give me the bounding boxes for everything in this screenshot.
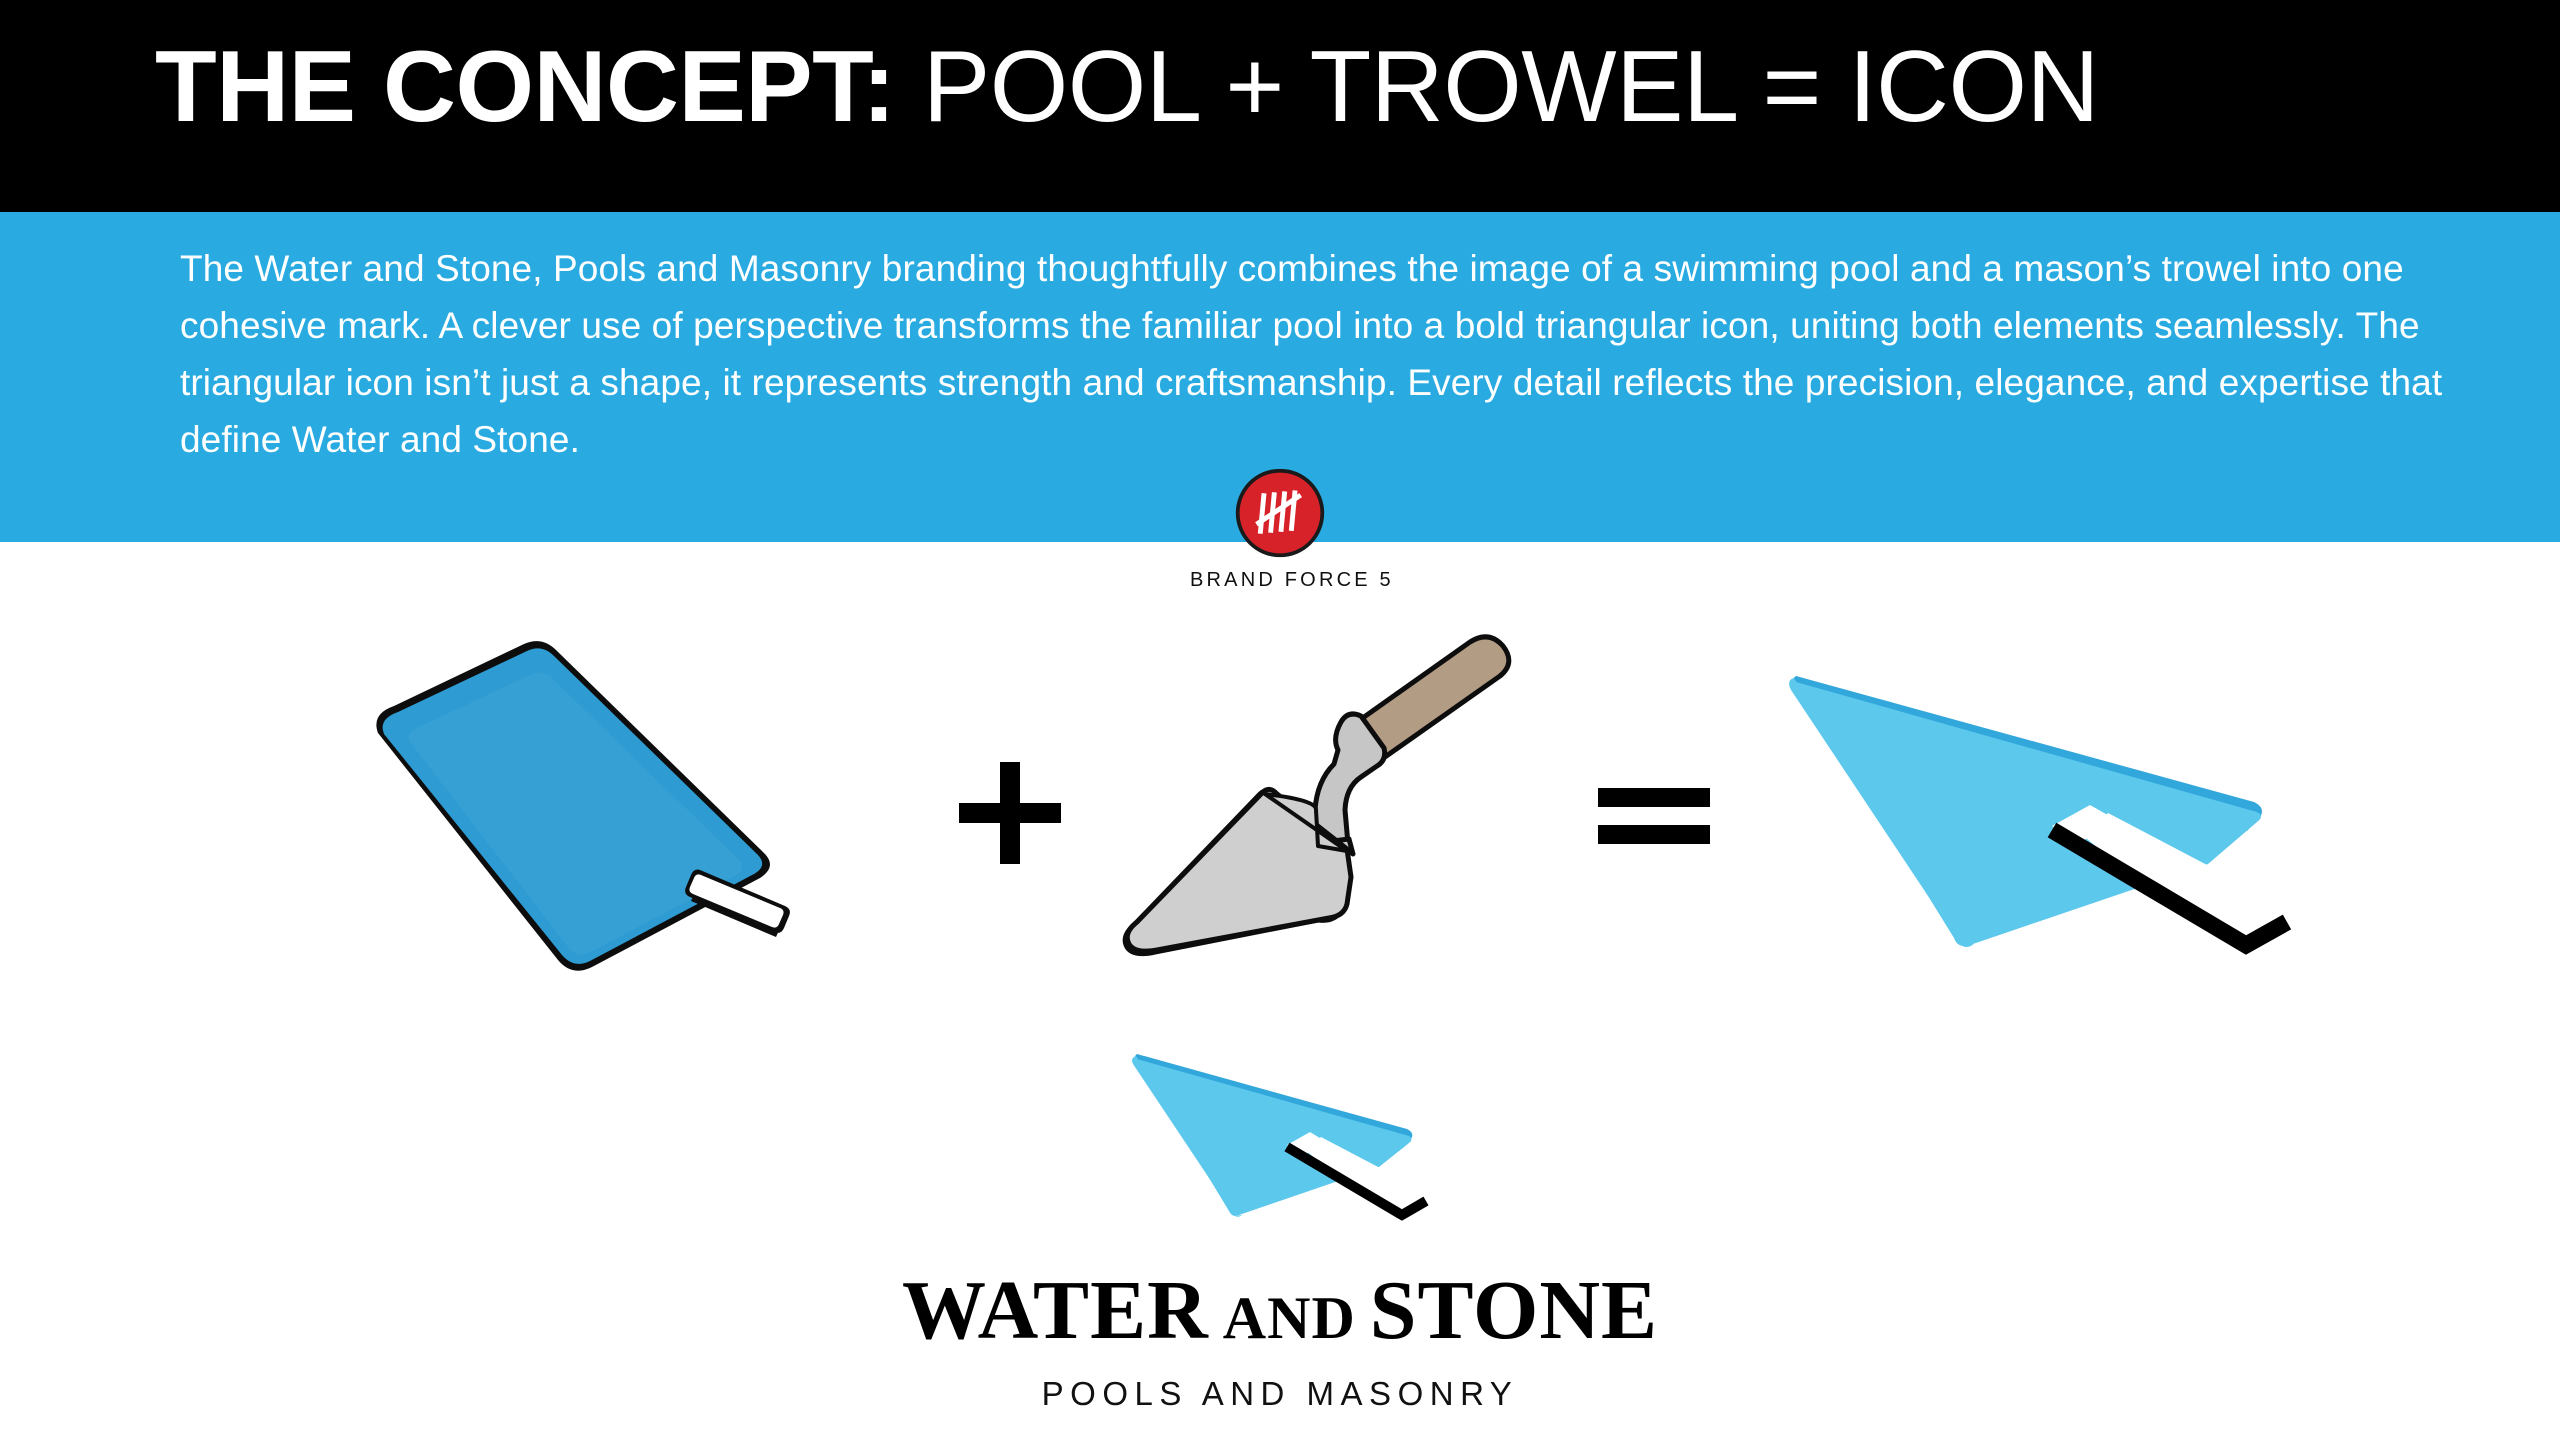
logo-wordmark: WATERANDSTONE bbox=[0, 1266, 2560, 1363]
header-band: THE CONCEPT: POOL + TROWEL = ICON bbox=[0, 0, 2560, 212]
page-title: THE CONCEPT: POOL + TROWEL = ICON bbox=[155, 32, 2455, 142]
logo-tagline: POOLS AND MASONRY bbox=[0, 1375, 2560, 1413]
agency-badge-label: BRAND FORCE 5 bbox=[1190, 569, 1370, 592]
logo-wordmark-part2: STONE bbox=[1370, 1264, 1658, 1357]
triangular-pool-trowel-icon bbox=[1760, 650, 2320, 970]
agency-badge: BRAND FORCE 5 bbox=[1190, 466, 1370, 586]
equals-operator bbox=[1590, 770, 1720, 860]
logo-wordmark-and: AND bbox=[1209, 1285, 1370, 1351]
tally-five-icon bbox=[1233, 466, 1327, 560]
page-title-strong: THE CONCEPT: bbox=[155, 31, 895, 143]
mason-trowel-illustration bbox=[1085, 630, 1545, 980]
concept-equation bbox=[0, 630, 2560, 1000]
slide-canvas: THE CONCEPT: POOL + TROWEL = ICON The Wa… bbox=[0, 0, 2560, 1440]
water-and-stone-mark bbox=[1115, 1040, 1445, 1260]
brand-logo-lockup: WATERANDSTONE POOLS AND MASONRY bbox=[0, 1040, 2560, 1440]
logo-wordmark-part1: WATER bbox=[902, 1264, 1209, 1357]
intro-paragraph: The Water and Stone, Pools and Masonry b… bbox=[180, 240, 2450, 468]
plus-operator bbox=[945, 748, 1075, 878]
swimming-pool-illustration bbox=[250, 630, 900, 980]
page-title-light: POOL + TROWEL = ICON bbox=[895, 31, 2099, 143]
